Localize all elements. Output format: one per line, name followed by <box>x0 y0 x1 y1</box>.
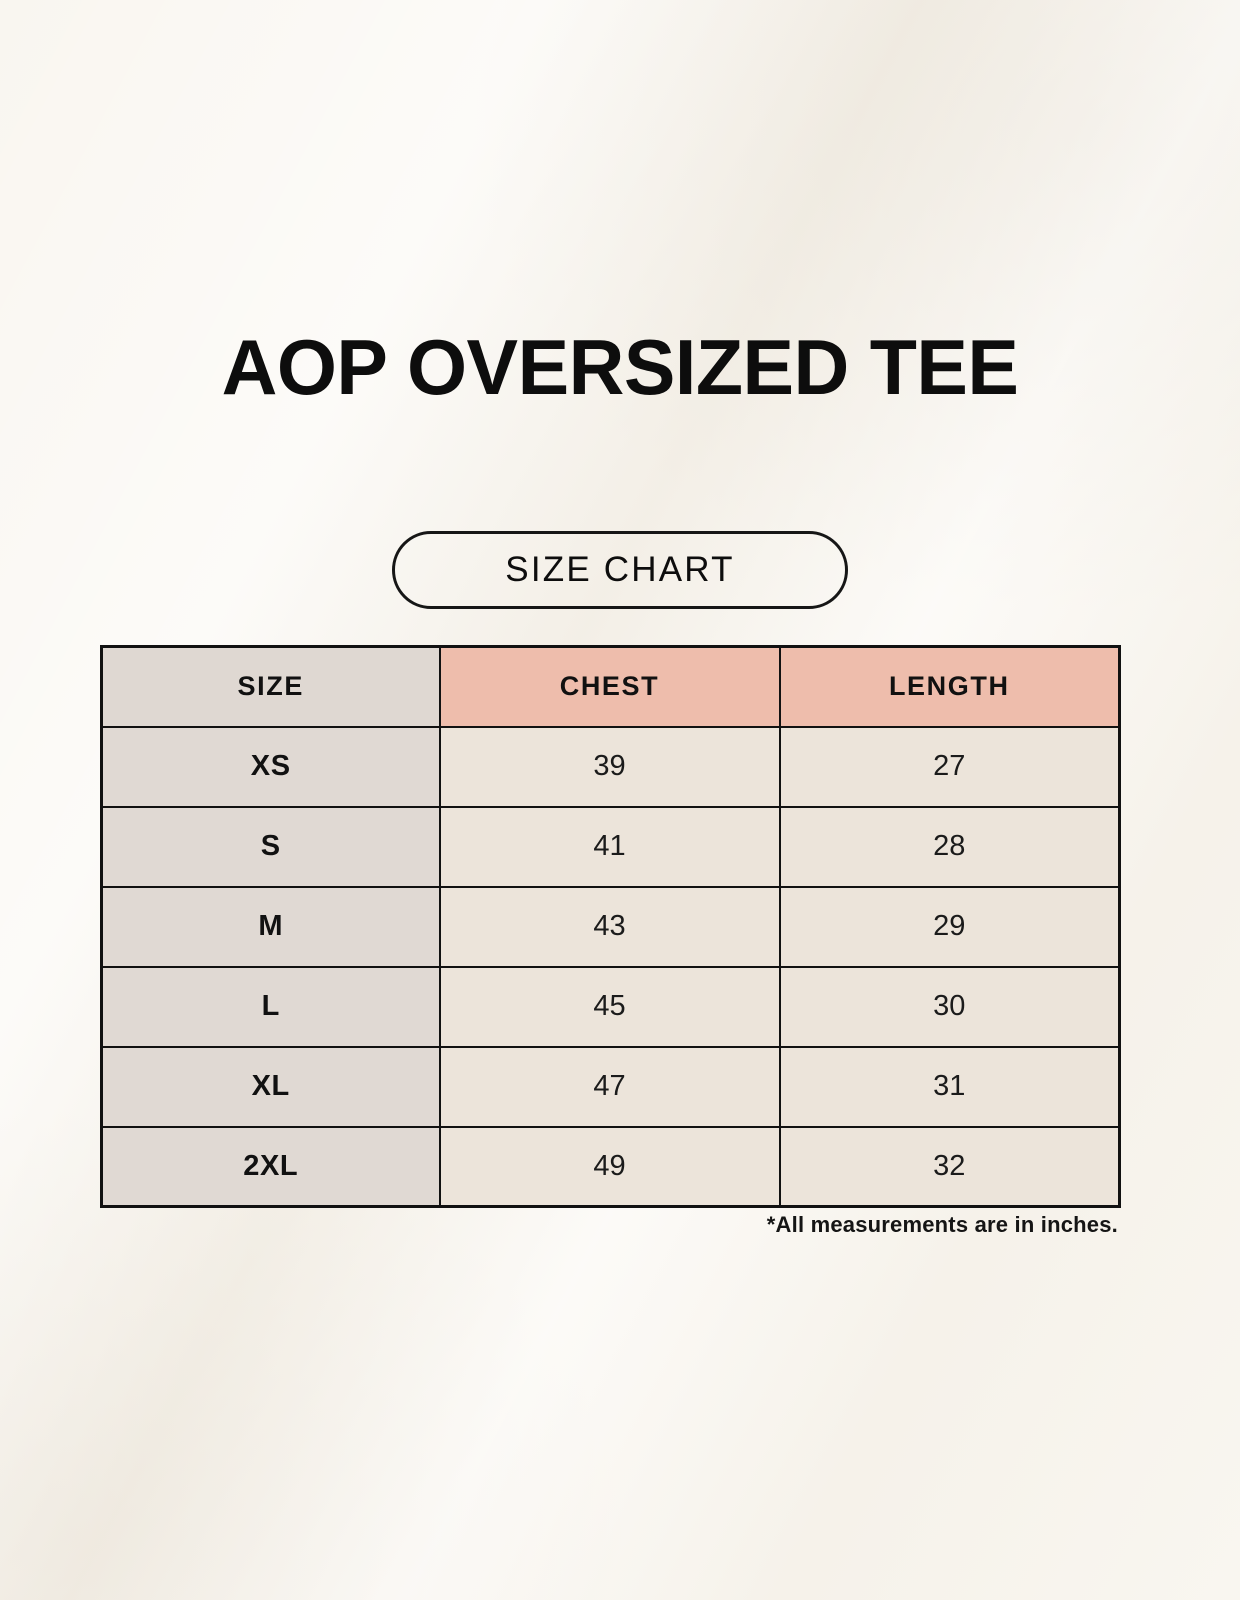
cell-size: 2XL <box>102 1127 440 1207</box>
cell-length: 31 <box>780 1047 1120 1127</box>
page-title: AOP OVERSIZED TEE <box>175 330 1066 405</box>
size-table-wrap: SIZE CHEST LENGTH XS 39 27 S 41 28 <box>100 645 1118 1208</box>
cell-chest: 45 <box>440 967 780 1047</box>
cell-length: 27 <box>780 727 1120 807</box>
table-row: S 41 28 <box>102 807 1120 887</box>
measurement-units-footnote: *All measurements are in inches. <box>100 1212 1118 1238</box>
cell-length: 29 <box>780 887 1120 967</box>
cell-length: 32 <box>780 1127 1120 1207</box>
cell-size: S <box>102 807 440 887</box>
cell-size: XS <box>102 727 440 807</box>
column-header-chest: CHEST <box>440 647 780 727</box>
size-chart-badge-label: SIZE CHART <box>505 550 734 590</box>
size-table-head: SIZE CHEST LENGTH <box>102 647 1120 727</box>
cell-size: M <box>102 887 440 967</box>
table-row: L 45 30 <box>102 967 1120 1047</box>
table-row: XL 47 31 <box>102 1047 1120 1127</box>
table-row: 2XL 49 32 <box>102 1127 1120 1207</box>
cell-length: 28 <box>780 807 1120 887</box>
size-chart-badge: SIZE CHART <box>392 531 848 609</box>
size-chart-badge-wrap: SIZE CHART <box>0 531 1240 609</box>
cell-size: XL <box>102 1047 440 1127</box>
cell-length: 30 <box>780 967 1120 1047</box>
cell-size: L <box>102 967 440 1047</box>
column-header-length: LENGTH <box>780 647 1120 727</box>
size-table: SIZE CHEST LENGTH XS 39 27 S 41 28 <box>100 645 1121 1208</box>
column-header-size: SIZE <box>102 647 440 727</box>
size-chart-page: AOP OVERSIZED TEE SIZE CHART SIZE CHEST … <box>0 0 1240 1600</box>
cell-chest: 41 <box>440 807 780 887</box>
table-row: XS 39 27 <box>102 727 1120 807</box>
table-header-row: SIZE CHEST LENGTH <box>102 647 1120 727</box>
cell-chest: 39 <box>440 727 780 807</box>
cell-chest: 43 <box>440 887 780 967</box>
cell-chest: 47 <box>440 1047 780 1127</box>
size-table-body: XS 39 27 S 41 28 M 43 29 L <box>102 727 1120 1207</box>
cell-chest: 49 <box>440 1127 780 1207</box>
table-row: M 43 29 <box>102 887 1120 967</box>
